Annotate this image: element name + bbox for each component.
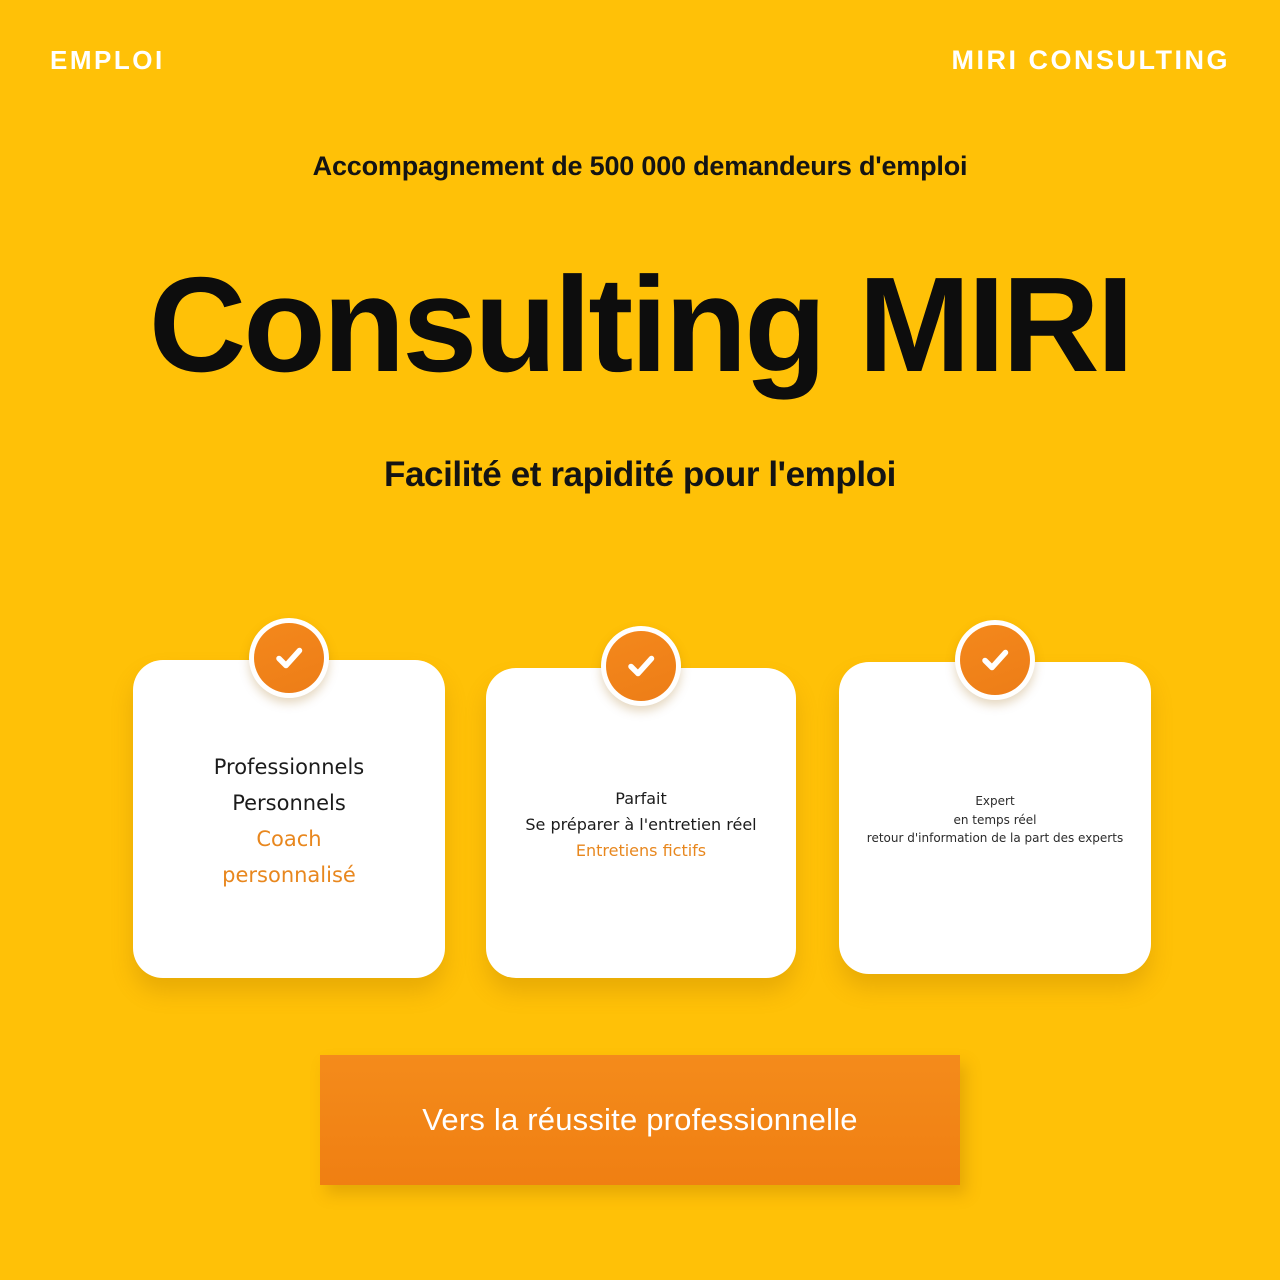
- card-line-accent: Entretiens fictifs: [500, 838, 782, 864]
- card-line-accent: personnalisé: [147, 857, 431, 893]
- check-badge: [249, 618, 329, 698]
- check-icon: [254, 623, 324, 693]
- top-bar: EMPLOI MIRI CONSULTING: [0, 0, 1280, 120]
- hero-eyebrow: Accompagnement de 500 000 demandeurs d'e…: [0, 150, 1280, 182]
- cta-button-label: Vers la réussite professionnelle: [422, 1101, 857, 1138]
- card-line: Personnels: [147, 785, 431, 821]
- brand-right-label: MIRI CONSULTING: [952, 47, 1230, 74]
- feature-card-text: Professionnels Personnels Coach personna…: [147, 749, 431, 893]
- feature-card-expert-feedback[interactable]: Expert en temps réel retour d'informatio…: [839, 662, 1151, 974]
- card-line: en temps réel: [853, 811, 1137, 830]
- card-line: retour d'information de la part des expe…: [853, 829, 1137, 848]
- card-line: Professionnels: [147, 749, 431, 785]
- feature-card-list: Professionnels Personnels Coach personna…: [0, 620, 1280, 1000]
- check-badge: [955, 620, 1035, 700]
- cta-button[interactable]: Vers la réussite professionnelle: [320, 1055, 960, 1185]
- card-line: Parfait: [500, 786, 782, 812]
- feature-card-coach[interactable]: Professionnels Personnels Coach personna…: [133, 660, 445, 978]
- card-line: Expert: [853, 792, 1137, 811]
- hero-tagline: Facilité et rapidité pour l'emploi: [0, 454, 1280, 496]
- card-line-accent: Coach: [147, 821, 431, 857]
- page-title: Consulting MIRI: [0, 254, 1280, 396]
- feature-card-text: Expert en temps réel retour d'informatio…: [853, 792, 1137, 848]
- hero-section: Accompagnement de 500 000 demandeurs d'e…: [0, 150, 1280, 496]
- brand-left-label: EMPLOI: [50, 47, 165, 73]
- feature-card-text: Parfait Se préparer à l'entretien réel E…: [500, 786, 782, 864]
- feature-card-mock-interviews[interactable]: Parfait Se préparer à l'entretien réel E…: [486, 668, 796, 978]
- check-icon: [960, 625, 1030, 695]
- card-line: Se préparer à l'entretien réel: [500, 812, 782, 838]
- check-badge: [601, 626, 681, 706]
- check-icon: [606, 631, 676, 701]
